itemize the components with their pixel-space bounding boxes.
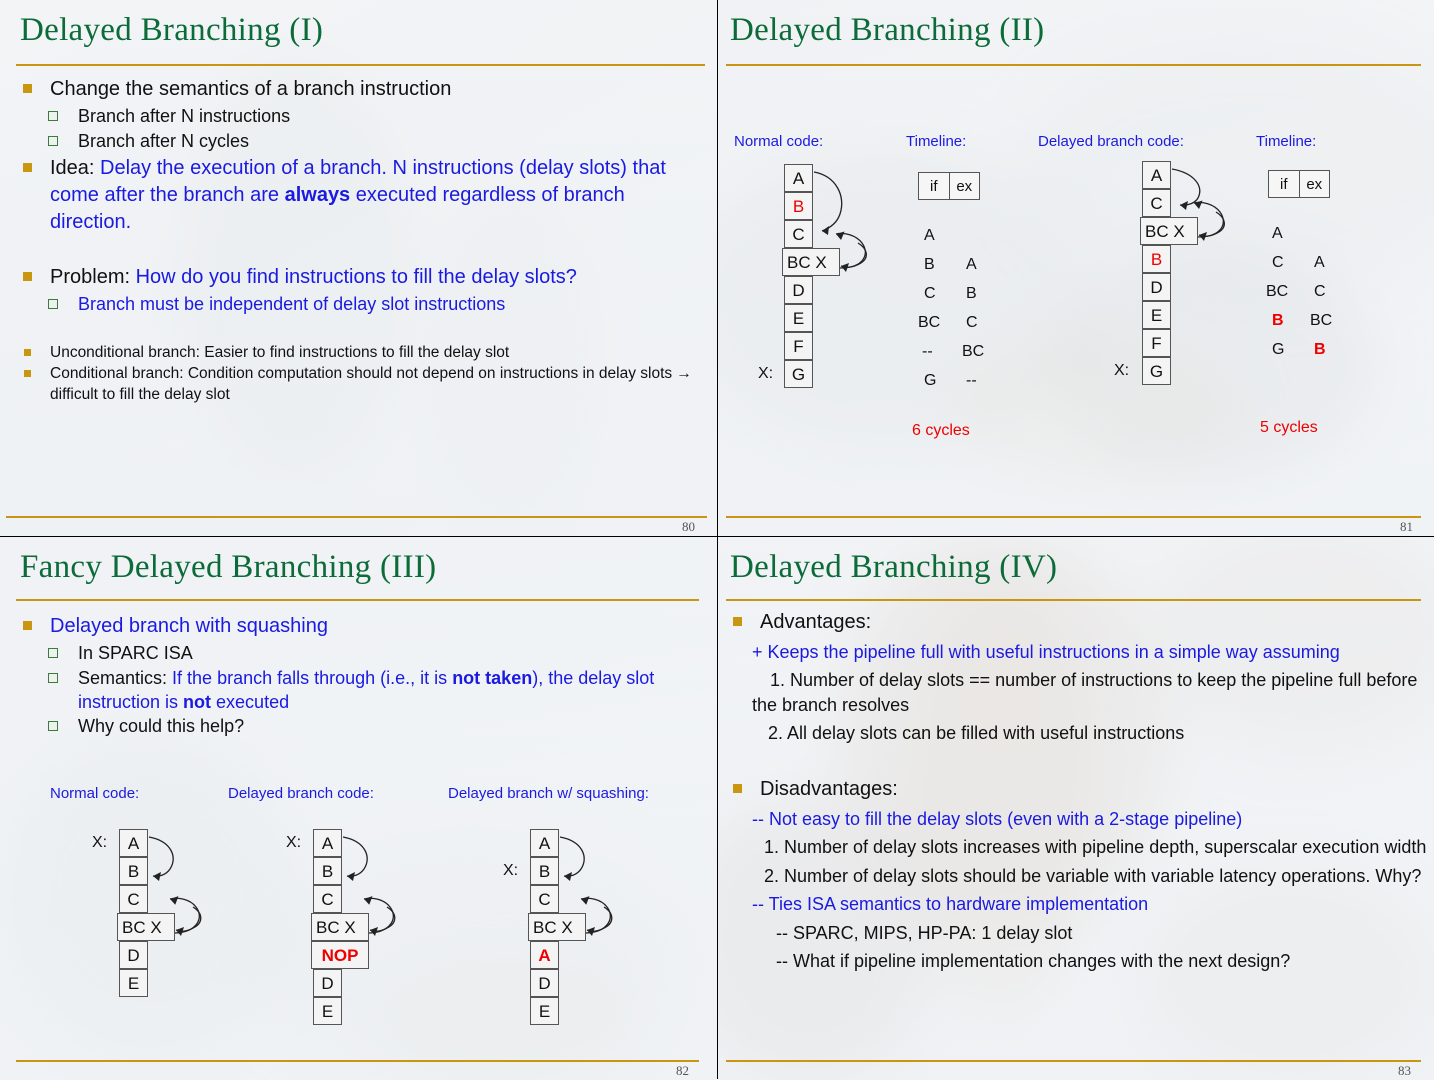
idea-label: Idea: (50, 157, 100, 179)
x-target-label: X: (758, 365, 773, 383)
slide-delayed-branching-4: Delayed Branching (IV) Advantages: + Kee… (718, 537, 1434, 1080)
problem-label: Problem: (50, 266, 136, 288)
bullet-change-semantics: Change the semantics of a branch instruc… (18, 76, 707, 103)
stage-if-label: if (1269, 171, 1300, 197)
timeline-cell: C (924, 285, 936, 303)
pipeline-stage-header-left: if ex (918, 172, 980, 200)
code-box-d: D (313, 969, 342, 997)
disadvantage-2-head: -- Ties ISA semantics to hardware implem… (752, 892, 1429, 916)
code-box-e: E (313, 997, 342, 1025)
timeline-cell: A (924, 227, 935, 245)
timeline-label-1: Timeline: (906, 133, 966, 150)
advantage-1: 1. Number of delay slots == number of in… (752, 668, 1429, 717)
code-box-g: G (1142, 357, 1171, 385)
slide-body: Advantages: + Keeps the pipeline full wi… (728, 609, 1429, 978)
bullet-branch-after-n-instructions: Branch after N instructions (44, 105, 707, 129)
code-box-b: B (1142, 245, 1171, 273)
code-box-e: E (119, 969, 148, 997)
bullet-text: Change the semantics of a branch instruc… (50, 78, 451, 100)
footer-rule (6, 516, 707, 518)
page-title: Delayed Branching (I) (20, 12, 323, 49)
timeline-diagram: Normal code: Timeline: Delayed branch co… (718, 0, 1434, 536)
timeline-cell: -- (966, 372, 977, 390)
delayed-branch-code-label: Delayed branch code: (228, 785, 374, 802)
bullet-text: Disadvantages: (760, 778, 898, 800)
x-target-label: X: (503, 862, 518, 880)
code-box-d: D (784, 276, 813, 304)
advantage-plus: + Keeps the pipeline full with useful in… (752, 640, 1429, 664)
control-flow-arrows (0, 537, 717, 1080)
disadvantage-2-b: -- What if pipeline implementation chang… (776, 949, 1429, 973)
timeline-cell: B (966, 285, 977, 303)
timeline-cell: A (1314, 254, 1325, 272)
bullet-idea: Idea: Delay the execution of a branch. N… (18, 155, 707, 236)
squashing-diagram: Normal code: Delayed branch code: Delaye… (0, 537, 717, 1080)
timeline-cell: B (924, 256, 935, 274)
slide-delayed-branching-2: Delayed Branching (II) Normal code: Time… (718, 0, 1434, 536)
pipeline-stage-header-right: if ex (1268, 170, 1330, 198)
footer-rule (726, 1060, 1421, 1062)
stage-ex-label: ex (950, 173, 980, 199)
timeline-cell-highlight: B (1314, 341, 1326, 359)
code-box-f: F (1142, 329, 1171, 357)
title-rule (726, 599, 1421, 601)
timeline-cell: G (1272, 341, 1284, 359)
code-box-b: B (313, 857, 342, 885)
bullet-list-problem: Problem: How do you find instructions to… (18, 264, 707, 317)
timeline-label-2: Timeline: (1256, 133, 1316, 150)
normal-code-label: Normal code: (734, 133, 823, 150)
code-box-bcx: BC X (117, 913, 175, 941)
timeline-cell-highlight: B (1272, 312, 1284, 330)
bullet-text: Branch must be independent of delay slot… (78, 294, 505, 314)
slide-body: Change the semantics of a branch instruc… (18, 76, 707, 406)
timeline-cell: C (966, 314, 978, 332)
code-box-g: G (784, 360, 813, 388)
slide-delayed-branching-1: Delayed Branching (I) Change the semanti… (0, 0, 717, 536)
x-target-label: X: (1114, 362, 1129, 380)
bullet-text: Branch after N instructions (78, 106, 290, 126)
normal-code-label: Normal code: (50, 785, 139, 802)
code-box-c: C (313, 885, 342, 913)
code-box-c: C (1142, 189, 1171, 217)
gap (728, 750, 1429, 776)
code-box-b: B (119, 857, 148, 885)
footer-rule (726, 516, 1421, 518)
code-box-c: C (119, 885, 148, 913)
code-box-nop: NOP (311, 941, 369, 969)
page-title: Delayed Branching (IV) (730, 549, 1057, 586)
bullet-list-small: Unconditional branch: Easier to find ins… (18, 343, 707, 404)
code-box-bcx: BC X (782, 248, 840, 276)
page-number: 83 (1398, 1063, 1411, 1079)
bullet-unconditional-branch: Unconditional branch: Easier to find ins… (18, 343, 707, 363)
code-box-f: F (784, 332, 813, 360)
stage-if-label: if (919, 173, 950, 199)
timeline-cell: C (1272, 254, 1284, 272)
code-box-e: E (784, 304, 813, 332)
delayed-branch-code-label: Delayed branch code: (1038, 133, 1184, 150)
x-target-label: X: (92, 834, 107, 852)
disadvantage-2-a: -- SPARC, MIPS, HP-PA: 1 delay slot (776, 921, 1429, 945)
timeline-cell: -- (922, 343, 933, 361)
timeline-cell: G (924, 372, 936, 390)
disadvantage-1-b: 2. Number of delay slots should be varia… (776, 864, 1429, 888)
problem-text: How do you find instructions to fill the… (136, 266, 577, 288)
bullet-disadvantages: Disadvantages: (728, 776, 1429, 803)
bullet-text: Unconditional branch: Easier to find ins… (50, 344, 509, 361)
code-box-e: E (1142, 301, 1171, 329)
bullet-problem: Problem: How do you find instructions to… (18, 264, 707, 291)
code-box-a: A (1142, 161, 1171, 189)
code-box-bcx: BC X (311, 913, 369, 941)
disadvantage-1-a: 1. Number of delay slots increases with … (776, 835, 1429, 859)
bullet-text: Branch after N cycles (78, 131, 249, 151)
bullet-list-disadvantages: Disadvantages: (728, 776, 1429, 803)
code-box-b: B (530, 857, 559, 885)
page-number: 82 (676, 1063, 689, 1079)
title-rule (16, 64, 705, 66)
bullet-advantages: Advantages: (728, 609, 1429, 636)
code-box-a: A (784, 164, 813, 192)
code-box-b: B (784, 192, 813, 220)
timeline-cell: A (1272, 225, 1283, 243)
page-number: 81 (1400, 519, 1413, 535)
cycle-count-left: 6 cycles (912, 422, 970, 440)
bullet-text: Conditional branch: Condition computatio… (50, 365, 692, 402)
page-number: 80 (682, 519, 695, 535)
bullet-conditional-branch: Conditional branch: Condition computatio… (18, 364, 707, 404)
idea-always: always (285, 184, 351, 206)
code-box-d: D (119, 941, 148, 969)
bullet-branch-independent: Branch must be independent of delay slot… (44, 293, 707, 317)
stage-ex-label: ex (1300, 171, 1330, 197)
timeline-cell: A (966, 256, 977, 274)
disadvantage-1-head: -- Not easy to fill the delay slots (eve… (752, 807, 1429, 831)
cycle-count-right: 5 cycles (1260, 419, 1318, 437)
code-box-bcx: BC X (528, 913, 586, 941)
x-target-label: X: (286, 834, 301, 852)
timeline-cell: BC (1310, 312, 1332, 330)
code-box-a: A (530, 829, 559, 857)
slide-deck: Delayed Branching (I) Change the semanti… (0, 0, 1434, 1079)
gap (18, 238, 707, 264)
footer-rule (16, 1060, 699, 1062)
timeline-cell: BC (1266, 283, 1288, 301)
code-box-c: C (530, 885, 559, 913)
code-box-d: D (1142, 273, 1171, 301)
slide-fancy-delayed-branching-3: Fancy Delayed Branching (III) Delayed br… (0, 537, 717, 1080)
code-box-c: C (784, 220, 813, 248)
code-box-e: E (530, 997, 559, 1025)
timeline-cell: BC (918, 314, 940, 332)
bullet-list: Change the semantics of a branch instruc… (18, 76, 707, 236)
timeline-cell: C (1314, 283, 1326, 301)
code-box-a-delayslot: A (530, 941, 559, 969)
code-box-d: D (530, 969, 559, 997)
bullet-list-advantages: Advantages: (728, 609, 1429, 636)
code-box-a: A (313, 829, 342, 857)
code-box-a: A (119, 829, 148, 857)
advantage-2: 2. All delay slots can be filled with us… (768, 721, 1429, 745)
timeline-cell: BC (962, 343, 984, 361)
gap-2 (18, 317, 707, 343)
code-box-bcx: BC X (1140, 217, 1198, 245)
bullet-text: Advantages: (760, 611, 871, 633)
bullet-branch-after-n-cycles: Branch after N cycles (44, 130, 707, 154)
squashing-label: Delayed branch w/ squashing: (448, 785, 649, 802)
